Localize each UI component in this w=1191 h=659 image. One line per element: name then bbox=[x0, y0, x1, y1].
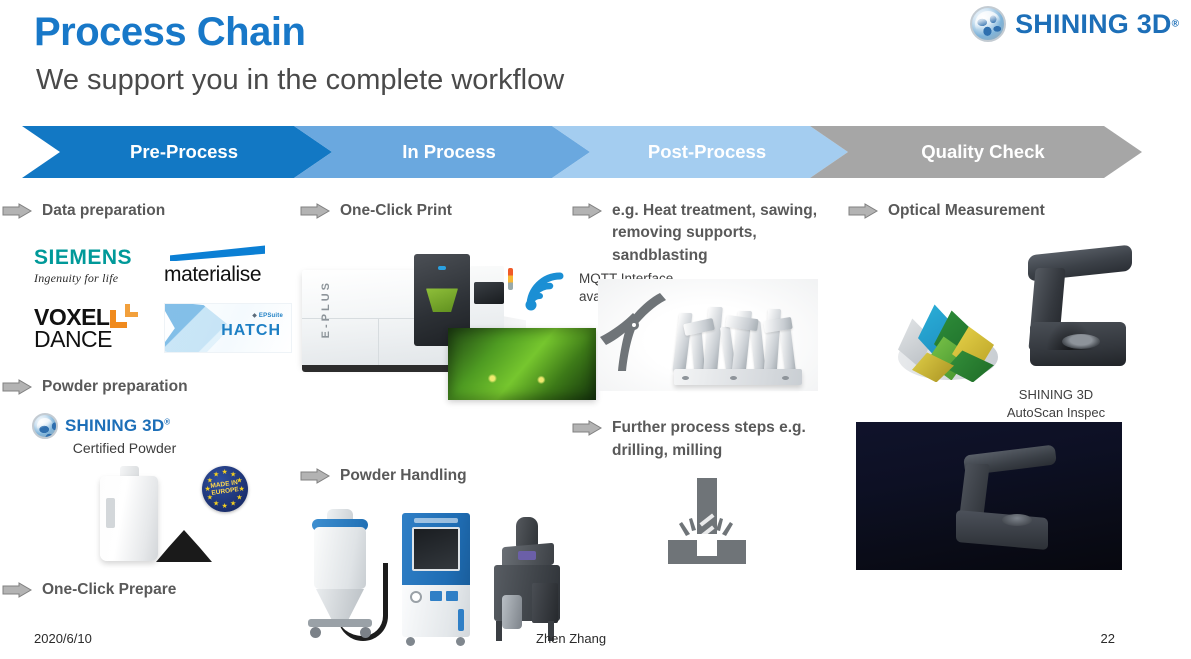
bullet-label: Data preparation bbox=[42, 200, 165, 222]
column-quality-check: Optical Measurement SHINING 3DAutoScan I… bbox=[848, 200, 1188, 394]
arrow-right-icon bbox=[848, 203, 878, 219]
process-chain-banner: Pre-Process In Process Post-Process Qual… bbox=[22, 126, 1170, 178]
globe-icon bbox=[970, 6, 1006, 42]
eplus-label: E-PLUS bbox=[320, 280, 332, 338]
machine-powder-vacuum bbox=[300, 505, 384, 645]
footer-author: Zhen Zhang bbox=[536, 631, 606, 646]
column-post-process: e.g. Heat treatment, sawing, removing su… bbox=[572, 200, 842, 571]
stage-pre-process[interactable]: Pre-Process bbox=[22, 126, 332, 178]
arrow-right-icon bbox=[2, 379, 32, 395]
bullet-powder-preparation: Powder preparation bbox=[2, 376, 287, 398]
scanner-caption-line: AutoScan Inspec bbox=[966, 404, 1146, 422]
globe-icon bbox=[32, 413, 58, 439]
bullet-further-process-steps: Further process steps e.g. drilling, mil… bbox=[572, 417, 842, 462]
machine-sieving-station bbox=[488, 517, 566, 645]
arrow-right-icon bbox=[300, 203, 330, 219]
support-removal-photo bbox=[598, 279, 818, 391]
stage-label: Post-Process bbox=[634, 141, 766, 163]
certified-powder-block: SHINING 3D® Certified Powder ★★★★★★★★★★★… bbox=[32, 413, 287, 569]
arrow-right-icon bbox=[572, 420, 602, 436]
bullet-label: e.g. Heat treatment, sawing, removing su… bbox=[612, 200, 824, 267]
shining3d-logo: SHINING 3D® bbox=[970, 6, 1179, 42]
partner-logo-grid: SIEMENS Ingenuity for life materialise V… bbox=[34, 240, 287, 354]
epsuite-label: ◆ EPSuite bbox=[252, 312, 283, 319]
bullet-one-click-prepare: One-Click Prepare bbox=[2, 579, 287, 601]
bullet-data-preparation: Data preparation bbox=[2, 200, 287, 222]
printer-illustration: E-PLUS MQTT Interface available bbox=[296, 236, 596, 401]
bullet-optical-measurement: Optical Measurement bbox=[848, 200, 1188, 222]
shining3d-wordmark: SHINING 3D® bbox=[65, 416, 170, 436]
brand-wordmark: SHINING 3D® bbox=[1015, 9, 1179, 40]
stage-label: In Process bbox=[388, 141, 496, 163]
scanner-caption-line: SHINING 3D bbox=[966, 386, 1146, 404]
bullet-label: One-Click Print bbox=[340, 200, 452, 222]
bullet-heat-treatment: e.g. Heat treatment, sawing, removing su… bbox=[572, 200, 842, 267]
column-pre-process: Data preparation SIEMENS Ingenuity for l… bbox=[2, 200, 287, 601]
stage-in-process[interactable]: In Process bbox=[294, 126, 590, 178]
bullet-label: Optical Measurement bbox=[888, 200, 1045, 222]
page-title: Process Chain bbox=[34, 10, 305, 55]
stage-label: Pre-Process bbox=[116, 141, 238, 163]
powder-bottle-image: ★★★★★★★★★★★★ MADE IN EUROPE bbox=[52, 464, 252, 569]
made-in-europe-badge: ★★★★★★★★★★★★ MADE IN EUROPE bbox=[202, 466, 248, 512]
slide-footer: 2020/6/10 Zhen Zhang 22 bbox=[0, 631, 1191, 651]
arrow-right-icon bbox=[2, 203, 32, 219]
scanner-caption: SHINING 3DAutoScan Inspec bbox=[966, 386, 1146, 421]
footer-date: 2020/6/10 bbox=[34, 631, 92, 646]
stage-label: Quality Check bbox=[907, 141, 1044, 163]
certified-powder-caption: Certified Powder bbox=[32, 440, 217, 456]
bullet-one-click-print: One-Click Print bbox=[300, 200, 570, 222]
siemens-tagline: Ingenuity for life bbox=[34, 271, 152, 286]
arrow-right-icon bbox=[300, 468, 330, 484]
autoscan-inspec-scanner bbox=[1006, 248, 1134, 384]
footer-page-number: 22 bbox=[1101, 631, 1115, 646]
powder-handling-machines bbox=[300, 500, 575, 645]
siemens-wordmark: SIEMENS bbox=[34, 246, 152, 270]
materialise-wordmark: materialise bbox=[164, 263, 294, 287]
stage-post-process[interactable]: Post-Process bbox=[552, 126, 848, 178]
logo-voxeldance: VOXEL DANCE bbox=[34, 302, 152, 354]
scanner-product-photo bbox=[856, 422, 1122, 570]
inspection-illustration: SHINING 3DAutoScan Inspec bbox=[848, 244, 1168, 394]
bullet-label: Powder preparation bbox=[42, 376, 188, 398]
bullet-powder-handling: Powder Handling bbox=[300, 465, 570, 487]
column-in-process: One-Click Print E-PLUS MQTT Interface bbox=[300, 200, 570, 645]
page-subtitle: We support you in the complete workflow bbox=[36, 64, 564, 97]
bullet-label: Further process steps e.g. drilling, mil… bbox=[612, 417, 818, 462]
logo-epsuite-hatch: ◆ EPSuite HATCH bbox=[164, 302, 294, 354]
bullet-label: One-Click Prepare bbox=[42, 579, 176, 601]
powder-pile-icon bbox=[156, 530, 212, 562]
logo-siemens: SIEMENS Ingenuity for life bbox=[34, 240, 152, 292]
hatch-wordmark: HATCH bbox=[221, 322, 281, 340]
wifi-icon bbox=[522, 268, 570, 317]
arrow-right-icon bbox=[572, 203, 602, 219]
printer-screen bbox=[426, 288, 458, 312]
printer-viewport bbox=[474, 282, 504, 304]
logo-materialise: materialise bbox=[164, 240, 294, 292]
materialise-mark-icon bbox=[170, 245, 265, 261]
stage-quality-check[interactable]: Quality Check bbox=[810, 126, 1142, 178]
machine-vacuum-oven bbox=[398, 513, 474, 645]
voxeldance-corner-icon bbox=[110, 304, 140, 330]
impeller-deviation-map bbox=[896, 296, 1002, 382]
status-light-icon bbox=[508, 268, 513, 290]
pliers-icon bbox=[598, 289, 672, 375]
dance-wordmark: DANCE bbox=[34, 326, 152, 353]
build-plate-with-parts bbox=[670, 297, 806, 387]
bullet-label: Powder Handling bbox=[340, 465, 467, 487]
drilling-milling-icon bbox=[664, 478, 842, 571]
arrow-right-icon bbox=[2, 582, 32, 598]
